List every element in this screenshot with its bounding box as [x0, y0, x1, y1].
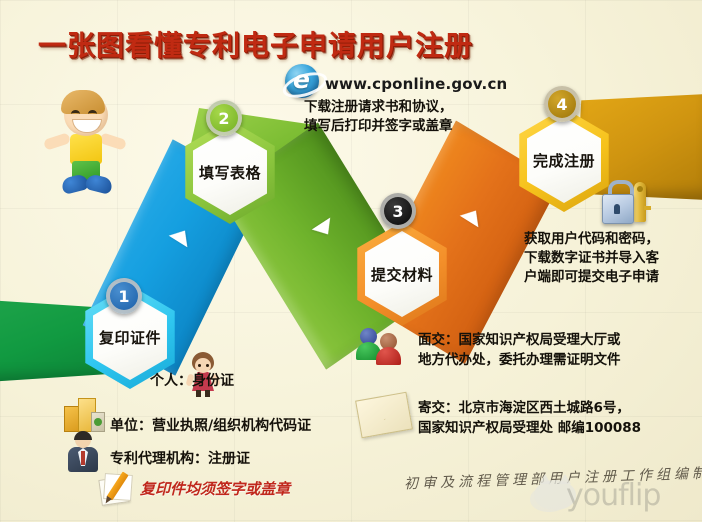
boy-shirt: [70, 134, 102, 164]
step-1-number-badge: 1: [106, 278, 142, 314]
step-2-number-badge: 2: [206, 100, 242, 136]
page-title: 一张图看懂专利电子申请用户注册: [38, 24, 473, 64]
step-4-description-line-1: 获取用户代码和密码，: [524, 230, 659, 249]
step-2-description: 下载注册请求书和协议， 填写后打印并签字或盖章: [304, 98, 453, 136]
man-hair: [74, 431, 92, 440]
document-signature-note: 复印件均须签字或盖章: [140, 478, 290, 499]
office-building-icon: [64, 398, 104, 432]
boy-shoe-right: [84, 173, 113, 195]
pencil-on-paper-icon: [100, 472, 142, 504]
boy-mascot-icon: [44, 88, 130, 200]
infographic-canvas: 一张图看懂专利电子申请用户注册 填写表格 2 完成注册 4: [0, 0, 702, 522]
website-url[interactable]: www.cponline.gov.cn: [325, 75, 507, 93]
submission-in-person-line-2: 地方代办处，委托办理需证明文件: [418, 350, 621, 370]
step-4-description-line-3: 户端即可提交电子申请: [524, 268, 659, 287]
step-2-label: 填写表格: [199, 162, 261, 183]
submission-by-mail: 寄交：北京市海淀区西土城路6号， 国家知识产权局受理处 邮编100088: [418, 398, 641, 438]
two-people-icon: [358, 328, 406, 366]
girl-leg-right: [205, 390, 210, 397]
watermark-text: youflip: [566, 478, 660, 513]
step-2-description-line-1: 下载注册请求书和协议，: [304, 98, 453, 117]
document-row-unit: 单位：营业执照/组织机构代码证: [110, 415, 311, 435]
step-4-label: 完成注册: [533, 150, 595, 171]
step-3-number-badge: 3: [380, 193, 416, 229]
boy-arm-left: [43, 132, 71, 150]
girl-eye-left: [198, 364, 201, 367]
step-3-label: 提交材料: [371, 264, 433, 285]
document-row-agency: 专利代理机构：注册证: [110, 448, 250, 468]
boy-eye-left: [71, 110, 80, 118]
boy-arm-right: [99, 132, 127, 150]
ie-browser-icon: e: [283, 62, 321, 100]
person-body: [376, 347, 401, 365]
key-icon: [634, 182, 646, 222]
step-4-description-line-2: 下载数字证书并导入客: [524, 249, 659, 268]
step-node-2[interactable]: 填写表格: [178, 120, 282, 224]
step-1-label: 复印证件: [99, 327, 161, 348]
step-2-description-line-2: 填写后打印并签字或盖章: [304, 117, 453, 136]
step-4-number-badge: 4: [544, 86, 580, 122]
step-node-3[interactable]: 提交材料: [350, 222, 454, 326]
document-row-person: 个人：身份证: [150, 370, 234, 390]
submission-in-person-line-1: 面交：国家知识产权局受理大厅或: [418, 330, 621, 350]
lock-and-key-icon: [598, 178, 666, 228]
envelope-icon: [355, 392, 413, 438]
submission-in-person: 面交：国家知识产权局受理大厅或 地方代办处，委托办理需证明文件: [418, 330, 621, 370]
boy-hair: [61, 90, 105, 114]
boy-eye-right: [88, 110, 97, 118]
step-4-description: 获取用户代码和密码， 下载数字证书并导入客 户端即可提交电子申请: [524, 230, 659, 287]
man-tie: [81, 451, 85, 465]
tree-shape: [94, 418, 102, 426]
businessman-icon: [66, 432, 100, 472]
lock-keyhole: [614, 204, 620, 214]
submission-by-mail-line-1: 寄交：北京市海淀区西土城路6号，: [418, 398, 641, 418]
submission-by-mail-line-2: 国家知识产权局受理处 邮编100088: [418, 418, 641, 438]
girl-eye-right: [206, 364, 209, 367]
girl-leg-left: [196, 390, 201, 397]
